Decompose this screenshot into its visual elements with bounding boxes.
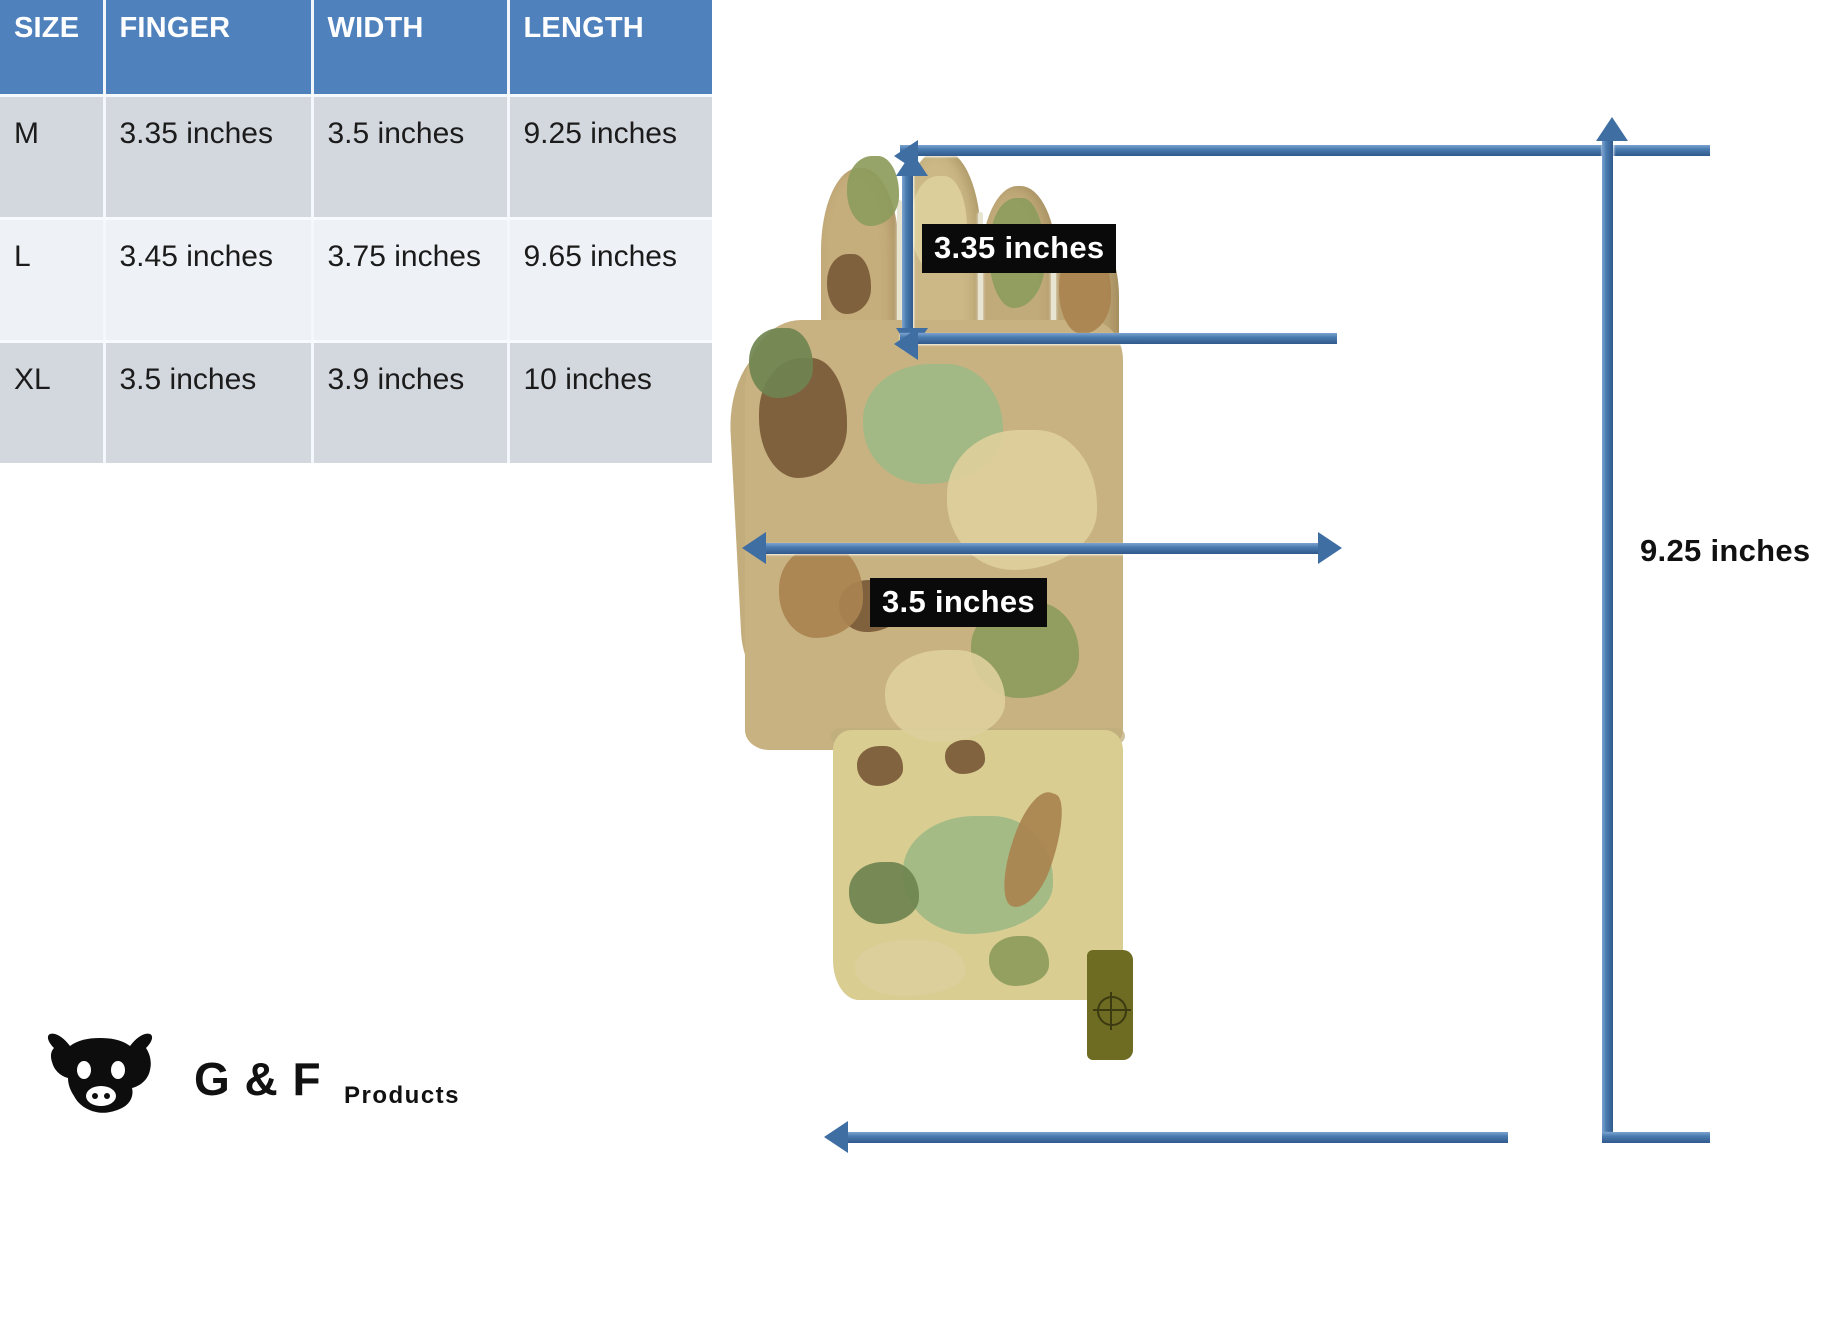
camo-patch [849,862,919,924]
camo-patch [827,254,871,314]
column-header-width: WIDTH [312,0,508,96]
camo-patch [989,936,1049,986]
palm-width-arrowhead-right [1318,532,1342,564]
palm-width-label: 3.5 inches [870,578,1047,627]
total-length-label: 9.25 inches [1640,533,1810,569]
camo-patch [779,546,863,638]
palm-width-arrowhead-left [742,532,766,564]
brand-name: G & F [194,1052,322,1106]
cell-width: 3.5 inches [312,96,508,219]
camo-patch [857,746,903,786]
cell-length: 10 inches [508,342,712,464]
bottom-leader-line-right [1602,1132,1710,1143]
bull-head-icon [44,1030,172,1126]
table-row: L 3.45 inches 3.75 inches 9.65 inches [0,219,712,342]
finger-base-leader-line [900,333,1337,344]
total-length-arrow-shaft [1602,140,1613,1140]
camo-patch [885,650,1005,742]
bottom-leader-arrowhead [824,1121,848,1153]
finger-base-leader-arrowhead [894,328,918,360]
finger-length-arrow-shaft [902,172,913,350]
bottom-leader-line [848,1132,1508,1143]
cell-width: 3.75 inches [312,219,508,342]
camo-patch [847,156,899,226]
cell-size: M [0,96,104,219]
table-header-row: SIZE FINGER WIDTH LENGTH [0,0,712,96]
camo-patch [945,740,985,774]
cell-size: XL [0,342,104,464]
table-body: M 3.35 inches 3.5 inches 9.25 inches L 3… [0,96,712,464]
brand-logo: G & F Products [44,1030,444,1140]
top-leader-line-right [1602,145,1710,156]
cell-length: 9.65 inches [508,219,712,342]
size-chart-table: SIZE FINGER WIDTH LENGTH M 3.35 inches 3… [0,0,712,463]
cell-width: 3.9 inches [312,342,508,464]
brand-suffix: Products [344,1082,460,1110]
camo-patch [749,328,813,398]
column-header-finger: FINGER [104,0,312,96]
table-header: SIZE FINGER WIDTH LENGTH [0,0,712,96]
table-row: M 3.35 inches 3.5 inches 9.25 inches [0,96,712,219]
glove-product-image [735,150,1135,990]
column-header-length: LENGTH [508,0,712,96]
cell-size: L [0,219,104,342]
glove-hang-tag [1087,950,1133,1060]
cell-length: 9.25 inches [508,96,712,219]
crosshair-icon [1097,996,1127,1026]
palm-width-arrow-shaft [766,543,1320,554]
cell-finger: 3.45 inches [104,219,312,342]
top-leader-arrowhead [894,140,918,172]
table-row: XL 3.5 inches 3.9 inches 10 inches [0,342,712,464]
column-header-size: SIZE [0,0,104,96]
finger-length-label: 3.35 inches [922,224,1116,273]
cell-finger: 3.35 inches [104,96,312,219]
cell-finger: 3.5 inches [104,342,312,464]
top-leader-line [900,145,1608,156]
total-length-arrowhead-top [1596,117,1628,141]
camo-patch [855,940,965,996]
